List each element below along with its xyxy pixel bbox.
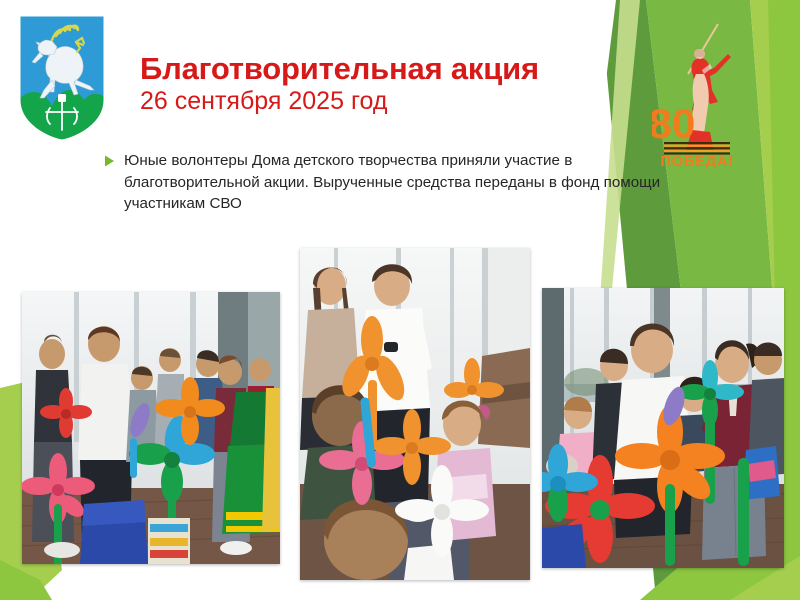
photo-volunteer-girl-balloons — [542, 288, 784, 568]
victory-logo-caption: ПОБЕДА! — [660, 153, 733, 168]
victory-logo-number: 80 — [652, 100, 695, 147]
page-subtitle-date: 26 сентября 2025 год — [140, 88, 610, 116]
bullet-arrow-icon — [104, 155, 115, 167]
title-block: Благотворительная акция 26 сентября 2025… — [140, 52, 610, 116]
victory-80-logo: 80 ПОБЕДА! — [652, 18, 748, 168]
gerb-icon — [16, 12, 108, 144]
presentation-slide: 80 ПОБЕДА! Благотворительная акция 26 се… — [0, 0, 800, 600]
body-text: Юные волонтеры Дома детского творчества … — [124, 150, 664, 215]
page-title: Благотворительная акция — [140, 52, 610, 85]
photo-balloon-making-children — [300, 248, 530, 580]
body-bullet-item: Юные волонтеры Дома детского творчества … — [104, 150, 664, 215]
photo-balloon-workshop-hall — [22, 292, 280, 564]
